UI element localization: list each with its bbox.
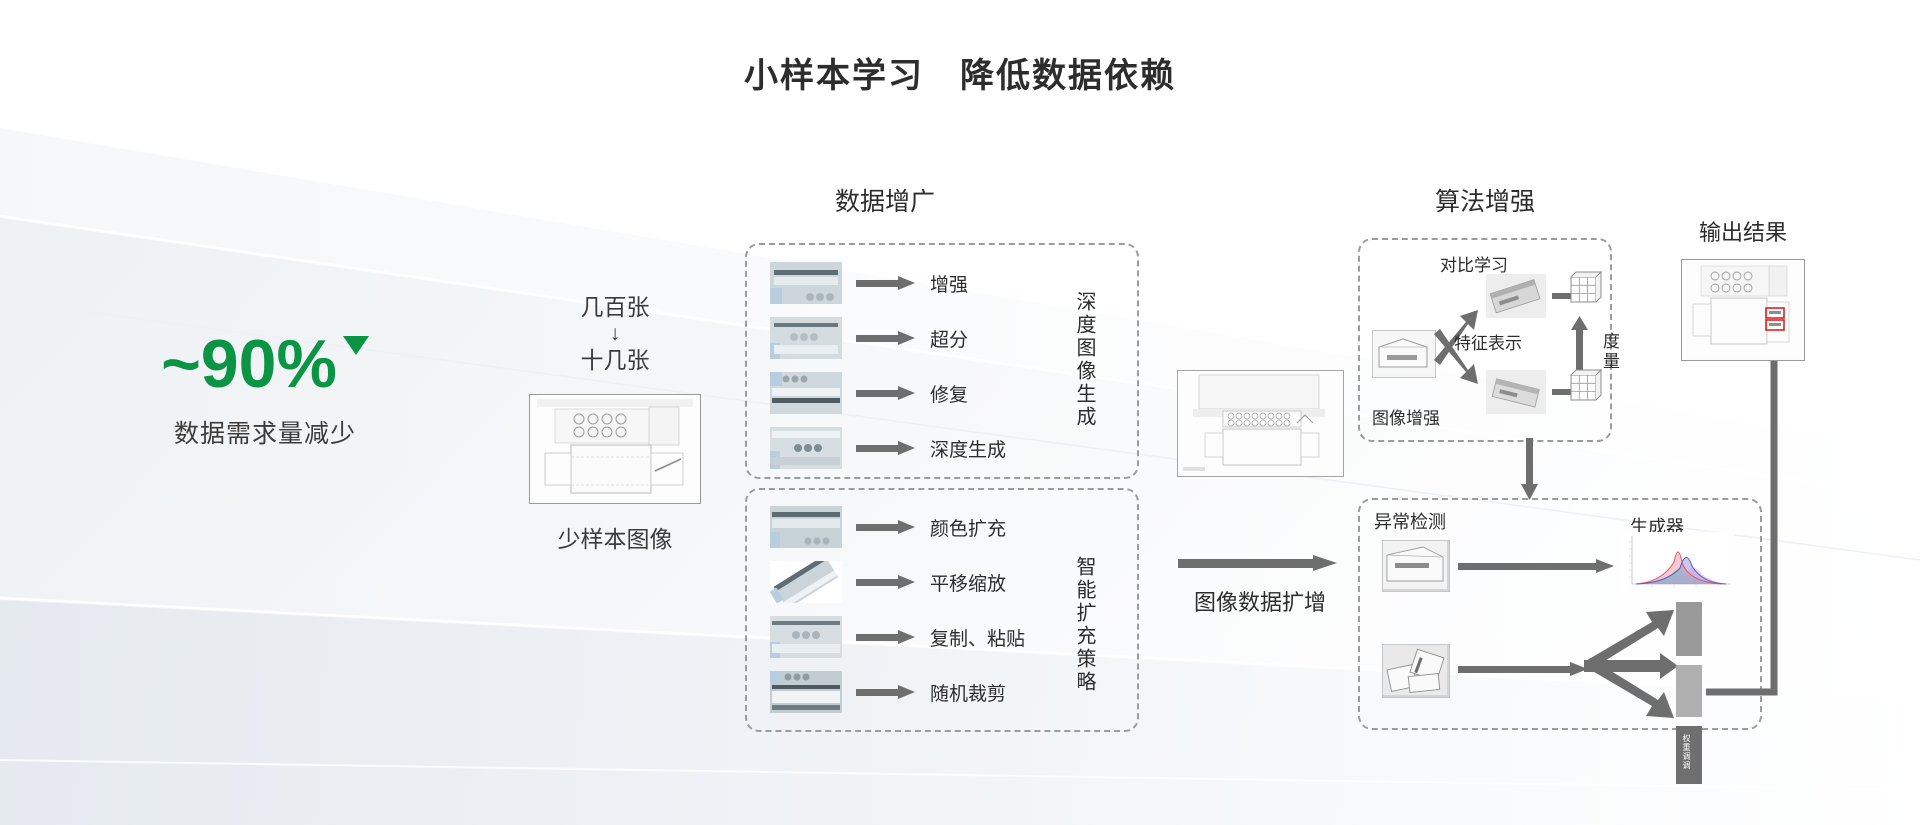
aug-label: 深度生成	[930, 435, 1006, 462]
sample-column: 几百张 ↓ 十几张 少样本图像	[520, 295, 710, 554]
right-arrow-icon	[856, 441, 916, 455]
aug-label: 修复	[930, 380, 968, 407]
aug-row: 深度生成	[770, 427, 1006, 469]
augmented-view-2-thumbnail	[1486, 370, 1546, 414]
strip-thumb-5	[770, 506, 842, 548]
strip-thumb-6	[770, 561, 842, 603]
anomaly-detection-heading: 异常检测	[1374, 508, 1446, 534]
stat-caption: 数据需求量减少	[120, 414, 410, 450]
right-arrow-icon	[856, 520, 916, 534]
defect-sample-1-thumbnail	[1382, 540, 1450, 592]
data-augmentation-title: 数据增广	[760, 182, 1010, 218]
weight-adjust-label: 权重调调	[1681, 734, 1692, 778]
right-arrow-icon	[856, 386, 916, 400]
right-arrow-icon	[856, 685, 916, 699]
page-title: 小样本学习 降低数据依赖	[0, 48, 1920, 97]
aug-row: 平移缩放	[770, 561, 1006, 603]
right-arrow-icon	[856, 575, 916, 589]
aug-label: 颜色扩充	[930, 514, 1006, 541]
smart-expansion-label: 智能扩充策略	[1066, 540, 1096, 710]
feature-cube-1	[1563, 268, 1603, 315]
right-arrow-icon	[1458, 662, 1588, 676]
aug-row: 超分	[770, 317, 968, 359]
aug-label: 随机裁剪	[930, 679, 1006, 706]
strip-thumb-2	[770, 317, 842, 359]
carton-sample-thumbnail	[529, 394, 701, 504]
strip-thumb-1	[770, 262, 842, 304]
stat-value: ~90%	[161, 330, 337, 398]
sample-count-to: 十几张	[520, 348, 710, 372]
source-image-thumbnail	[1372, 330, 1436, 378]
stat-block: ~90% 数据需求量减少	[120, 330, 410, 450]
sample-count-from: 几百张	[520, 295, 710, 319]
strip-thumb-4	[770, 427, 842, 469]
algorithm-enhancement-title: 算法增强	[1355, 182, 1615, 218]
strip-thumb-3	[770, 372, 842, 414]
down-arrow-icon: ↓	[520, 321, 710, 346]
candidate-block-1	[1676, 602, 1702, 656]
candidate-block-2	[1676, 665, 1702, 717]
aug-row: 颜色扩充	[770, 506, 1006, 548]
triangle-down-icon	[343, 336, 369, 355]
aug-row: 增强	[770, 262, 968, 304]
right-arrow-icon	[856, 276, 916, 290]
aug-label: 增强	[930, 270, 968, 297]
stat-value-row: ~90%	[120, 330, 410, 398]
output-block: 输出结果	[1648, 215, 1838, 361]
defect-sample-2-thumbnail	[1382, 644, 1450, 698]
transfer-block: 图像数据扩增	[1150, 370, 1370, 617]
contrastive-learning-heading: 对比学习	[1440, 251, 1508, 276]
deep-image-generation-label: 深度图像生成	[1066, 280, 1096, 440]
strip-thumb-8	[770, 671, 842, 713]
right-arrow-icon	[856, 331, 916, 345]
transfer-caption: 图像数据扩增	[1150, 585, 1370, 617]
aug-label: 平移缩放	[930, 569, 1006, 596]
strip-thumb-7	[770, 616, 842, 658]
right-arrow-icon	[856, 630, 916, 644]
feature-representation-label: 特征表示	[1454, 329, 1522, 354]
aug-row: 复制、粘贴	[770, 616, 1025, 658]
aug-row: 修复	[770, 372, 968, 414]
aug-row: 随机裁剪	[770, 671, 1006, 713]
augmented-view-1-thumbnail	[1486, 274, 1546, 318]
expanded-carton-thumbnail	[1177, 370, 1344, 477]
fanout-arrows	[1578, 588, 1688, 730]
detection-result-thumbnail	[1681, 259, 1805, 361]
right-arrow-icon	[1178, 555, 1343, 571]
image-enhancement-label: 图像增强	[1372, 404, 1440, 429]
output-title: 输出结果	[1648, 215, 1838, 247]
right-arrow-icon	[1458, 559, 1614, 573]
aug-label: 复制、粘贴	[930, 624, 1025, 651]
sample-caption: 少样本图像	[520, 520, 710, 554]
feature-cube-2	[1563, 366, 1603, 413]
down-arrow-icon	[1520, 438, 1540, 500]
aug-label: 超分	[930, 325, 968, 352]
